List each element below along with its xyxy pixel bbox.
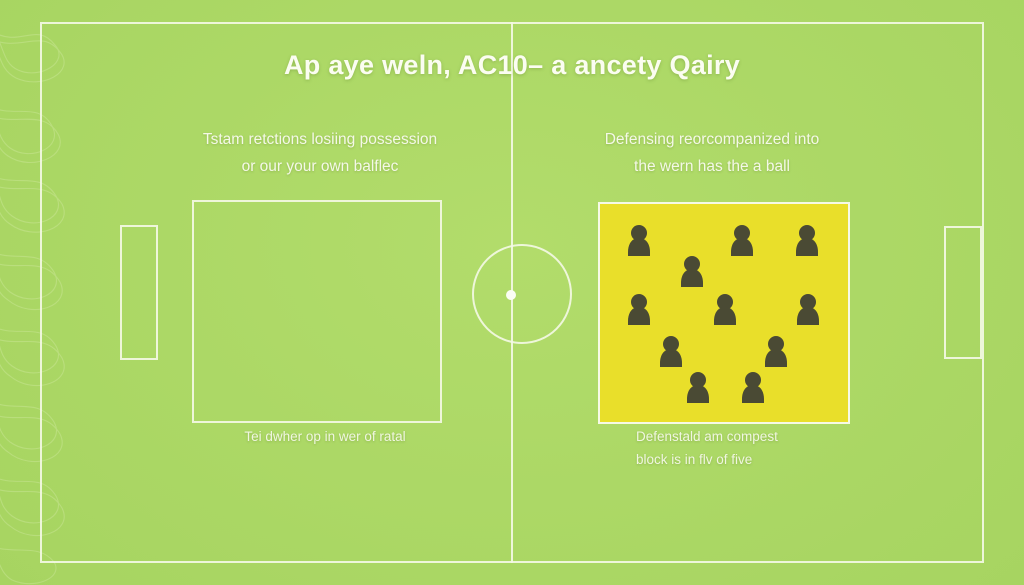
- left-subtitle-line-2: or our your own balflec: [118, 153, 522, 180]
- player-marker: [626, 224, 652, 258]
- left-subtitle-line-1: Tstam retctions losiing possession: [118, 126, 522, 153]
- tactics-board-graphic: Ap aye weln, AC10– a ancety Qairy Tstam …: [0, 0, 1024, 585]
- player-marker: [685, 371, 711, 405]
- player-marker: [658, 335, 684, 369]
- page-title: Ap aye weln, AC10– a ancety Qairy: [0, 50, 1024, 81]
- left-caption-line-1: Tei dwher op in wer of ratal: [180, 425, 470, 448]
- left-panel-subtitle: Tstam retctions losiing possession or ou…: [118, 126, 522, 180]
- right-caption-line-1: Defenstald am compest: [636, 425, 896, 448]
- left-goal-box: [120, 225, 158, 360]
- player-marker: [795, 293, 821, 327]
- center-circle: [472, 244, 572, 344]
- right-subtitle-line-1: Defensing reorcompanized into: [510, 126, 914, 153]
- player-marker: [712, 293, 738, 327]
- left-penalty-area: [192, 200, 442, 423]
- player-marker: [763, 335, 789, 369]
- center-spot: [506, 290, 516, 300]
- player-marker: [794, 224, 820, 258]
- left-panel-caption: Tei dwher op in wer of ratal: [180, 425, 470, 448]
- player-marker: [740, 371, 766, 405]
- player-marker: [679, 255, 705, 289]
- player-marker: [626, 293, 652, 327]
- defensive-block-zone: [598, 202, 850, 424]
- right-goal-box: [944, 226, 982, 359]
- right-panel-subtitle: Defensing reorcompanized into the wern h…: [510, 126, 914, 180]
- right-subtitle-line-2: the wern has the a ball: [510, 153, 914, 180]
- right-caption-line-2: block is in flv of five: [636, 448, 896, 471]
- player-marker: [729, 224, 755, 258]
- right-panel-caption: Defenstald am compest block is in flv of…: [636, 425, 896, 471]
